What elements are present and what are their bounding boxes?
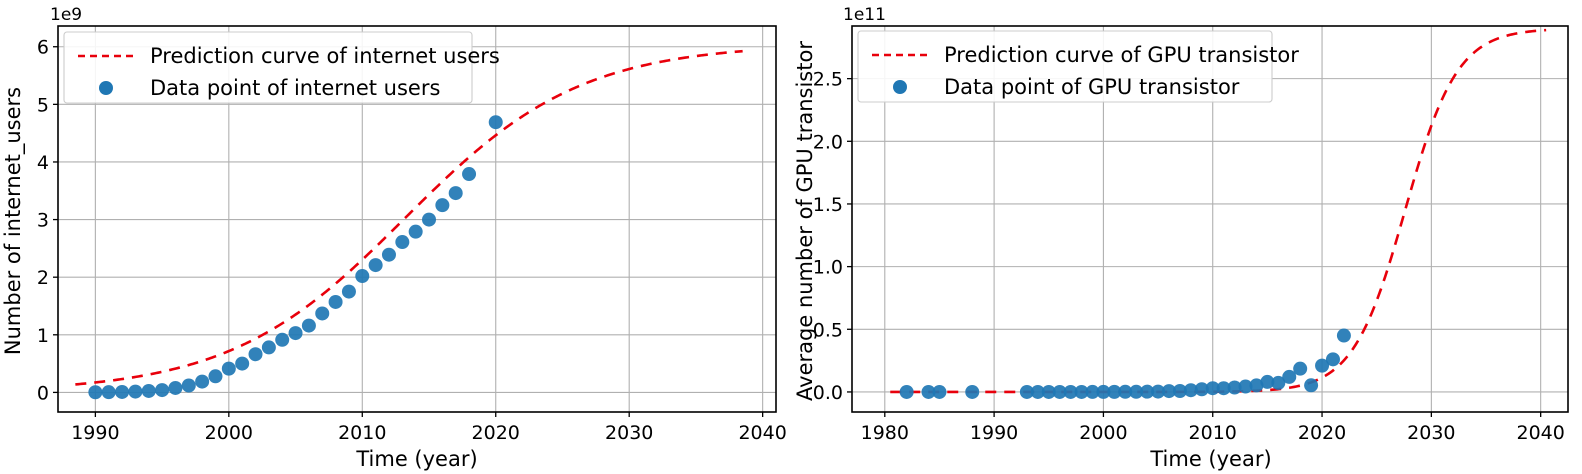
y-axis-offset-text-left: 1e9: [50, 5, 82, 25]
legend-left[interactable]: Prediction curve of internet users Data …: [64, 32, 500, 103]
data-point: [208, 369, 222, 383]
data-point: [275, 333, 289, 347]
x-tick-label: 1990: [970, 422, 1018, 444]
legend-label-prediction-right: Prediction curve of GPU transistor: [944, 43, 1299, 67]
data-point: [932, 385, 946, 399]
x-tick-label: 2040: [738, 422, 786, 444]
y-tick-label: 5: [37, 94, 49, 116]
y-axis-label-right: Average number of GPU transistor: [793, 41, 817, 401]
chart-panel-internet-users: 199020002010202020302040 0123456 1e9 Tim…: [0, 0, 800, 474]
x-tick-label: 2010: [338, 422, 386, 444]
x-axis-label-left: Time (year): [355, 447, 477, 471]
chart-panel-gpu-transistor: 1980199020002010202020302040 0.00.51.01.…: [790, 0, 1582, 474]
x-tick-labels-right: 1980199020002010202020302040: [861, 422, 1565, 444]
y-tick-labels-left: 0123456: [37, 37, 49, 405]
data-point: [289, 326, 303, 340]
data-point: [315, 306, 329, 320]
x-tick-label: 2010: [1189, 422, 1237, 444]
y-tick-label: 1: [37, 325, 49, 347]
y-tick-label: 2.0: [813, 131, 843, 153]
data-point: [262, 340, 276, 354]
data-point: [115, 385, 129, 399]
data-point: [182, 379, 196, 393]
y-tick-label: 6: [37, 37, 49, 59]
data-point: [1326, 352, 1340, 366]
data-point: [369, 258, 383, 272]
legend-label-datapoint-left: Data point of internet users: [150, 76, 440, 100]
internet-users-axes: 199020002010202020302040 0123456 1e9 Tim…: [0, 0, 800, 474]
y-tick-labels-right: 0.00.51.01.52.02.5: [813, 69, 843, 404]
x-tick-label: 2000: [1079, 422, 1127, 444]
data-points-gpu-transistor: [900, 329, 1351, 399]
legend-right[interactable]: Prediction curve of GPU transistor Data …: [858, 31, 1299, 102]
data-points-internet-users: [88, 115, 502, 399]
x-tick-labels-left: 199020002010202020302040: [71, 422, 787, 444]
data-point: [342, 285, 356, 299]
x-tick-label: 2020: [1298, 422, 1346, 444]
x-tick-label: 2020: [472, 422, 520, 444]
x-tick-label: 2030: [605, 422, 653, 444]
data-point: [195, 375, 209, 389]
x-tick-label: 2040: [1516, 422, 1564, 444]
data-point: [422, 213, 436, 227]
data-point: [409, 225, 423, 239]
y-tick-label: 0: [37, 382, 49, 404]
data-point: [155, 383, 169, 397]
data-point: [1304, 378, 1318, 392]
data-point: [102, 385, 116, 399]
y-tick-label: 3: [37, 210, 49, 232]
legend-label-datapoint-right: Data point of GPU transistor: [944, 75, 1240, 99]
data-point: [435, 198, 449, 212]
data-point: [489, 115, 503, 129]
y-tick-label: 1.0: [813, 257, 843, 279]
data-point: [1293, 362, 1307, 376]
data-point: [382, 248, 396, 262]
legend-marker-swatch-left: [99, 81, 113, 95]
y-axis-label-left: Number of internet_users: [1, 87, 26, 355]
data-point: [395, 235, 409, 249]
y-tick-label: 0.5: [813, 319, 843, 341]
x-tick-label: 2000: [205, 422, 253, 444]
legend-label-prediction-left: Prediction curve of internet users: [150, 44, 500, 68]
data-point: [965, 385, 979, 399]
y-axis-offset-text-right: 1e11: [843, 5, 886, 25]
data-point: [142, 384, 156, 398]
data-point: [302, 319, 316, 333]
tickmarks-right: [847, 79, 1541, 417]
y-tick-label: 4: [37, 152, 49, 174]
data-point: [1337, 329, 1351, 343]
legend-marker-swatch-right: [893, 80, 907, 94]
data-point: [462, 167, 476, 181]
data-point: [329, 295, 343, 309]
data-point: [88, 385, 102, 399]
data-point: [235, 357, 249, 371]
y-tick-label: 2.5: [813, 69, 843, 91]
data-point: [355, 269, 369, 283]
x-tick-label: 1990: [71, 422, 119, 444]
x-axis-label-right: Time (year): [1149, 447, 1271, 471]
data-point: [249, 347, 263, 361]
y-tick-label: 2: [37, 267, 49, 289]
x-tick-label: 1980: [861, 422, 909, 444]
data-point: [128, 385, 142, 399]
y-tick-label: 0.0: [813, 382, 843, 404]
data-point: [222, 362, 236, 376]
y-tick-label: 1.5: [813, 194, 843, 216]
gpu-transistor-axes: 1980199020002010202020302040 0.00.51.01.…: [790, 0, 1582, 474]
data-point: [168, 381, 182, 395]
data-point: [900, 385, 914, 399]
data-point: [449, 186, 463, 200]
x-tick-label: 2030: [1407, 422, 1455, 444]
matplotlib-figure: 199020002010202020302040 0123456 1e9 Tim…: [0, 0, 1582, 474]
